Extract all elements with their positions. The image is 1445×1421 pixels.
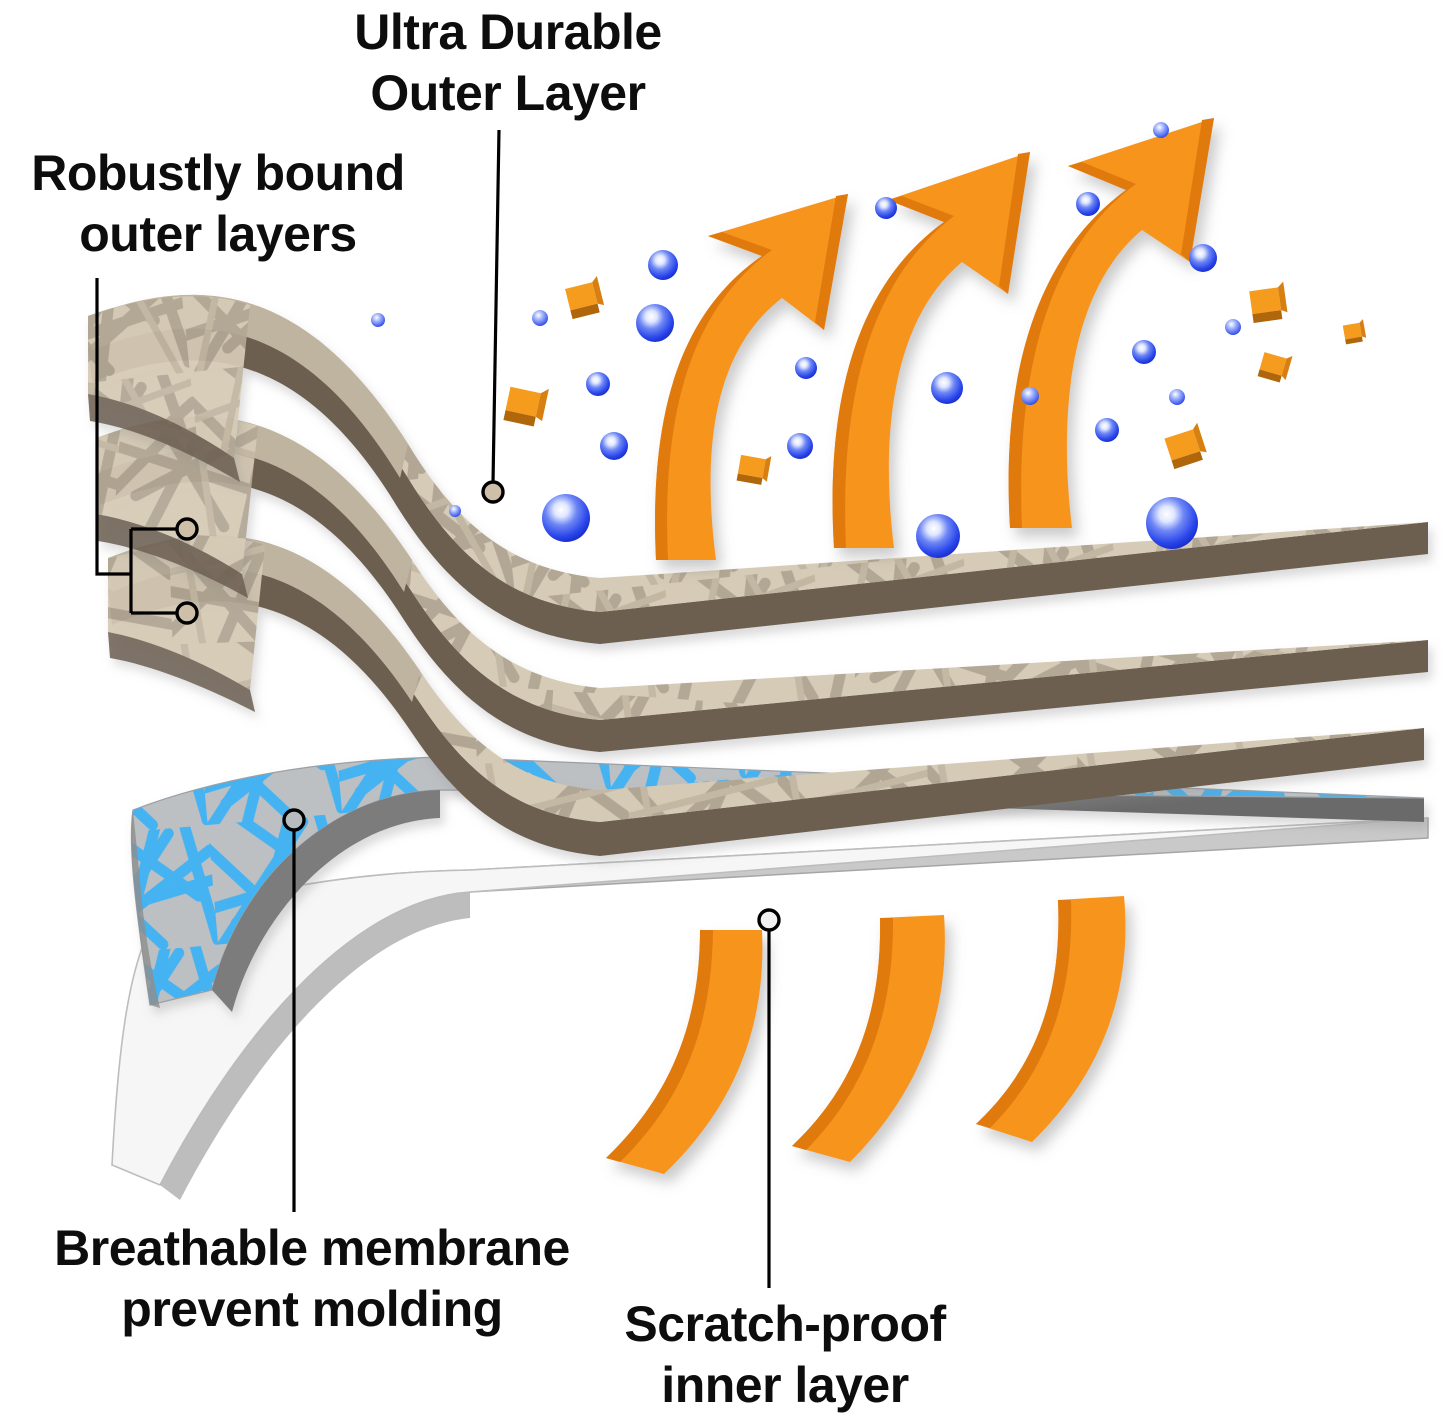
moisture-arrow-2 (833, 152, 1030, 548)
dirt-cube (1163, 423, 1209, 469)
airflow-arrow-2 (792, 915, 945, 1162)
dirt-cube (1249, 282, 1289, 324)
callout-label-breathable-membrane: Breathable membrane prevent molding (2, 1218, 622, 1340)
callout-line-scratch-proof (759, 910, 779, 1288)
callout-label-ultra-durable-outer-layer: Ultra Durable Outer Layer (318, 2, 698, 124)
airflow-arrow-3 (976, 896, 1125, 1142)
callout-label-robustly-bound-outer-layers: Robustly bound outer layers (2, 143, 434, 265)
dirt-cube (564, 276, 606, 319)
dirt-cube (1258, 348, 1293, 384)
callout-label-scratch-proof-inner-layer: Scratch-proof inner layer (580, 1294, 990, 1416)
dirt-cube (737, 451, 772, 486)
airflow-arrow-1 (606, 930, 762, 1174)
dirt-cube (503, 381, 548, 428)
airflow-arrows-bottom (606, 896, 1125, 1174)
callout-line-ultra-durable (483, 130, 503, 502)
dirt-cube (1342, 319, 1367, 344)
diagram-canvas: Ultra Durable Outer Layer Robustly bound… (0, 0, 1445, 1421)
moisture-escape-arrows (655, 118, 1214, 560)
moisture-arrow-3 (1009, 118, 1214, 528)
moisture-arrow-1 (655, 194, 848, 560)
